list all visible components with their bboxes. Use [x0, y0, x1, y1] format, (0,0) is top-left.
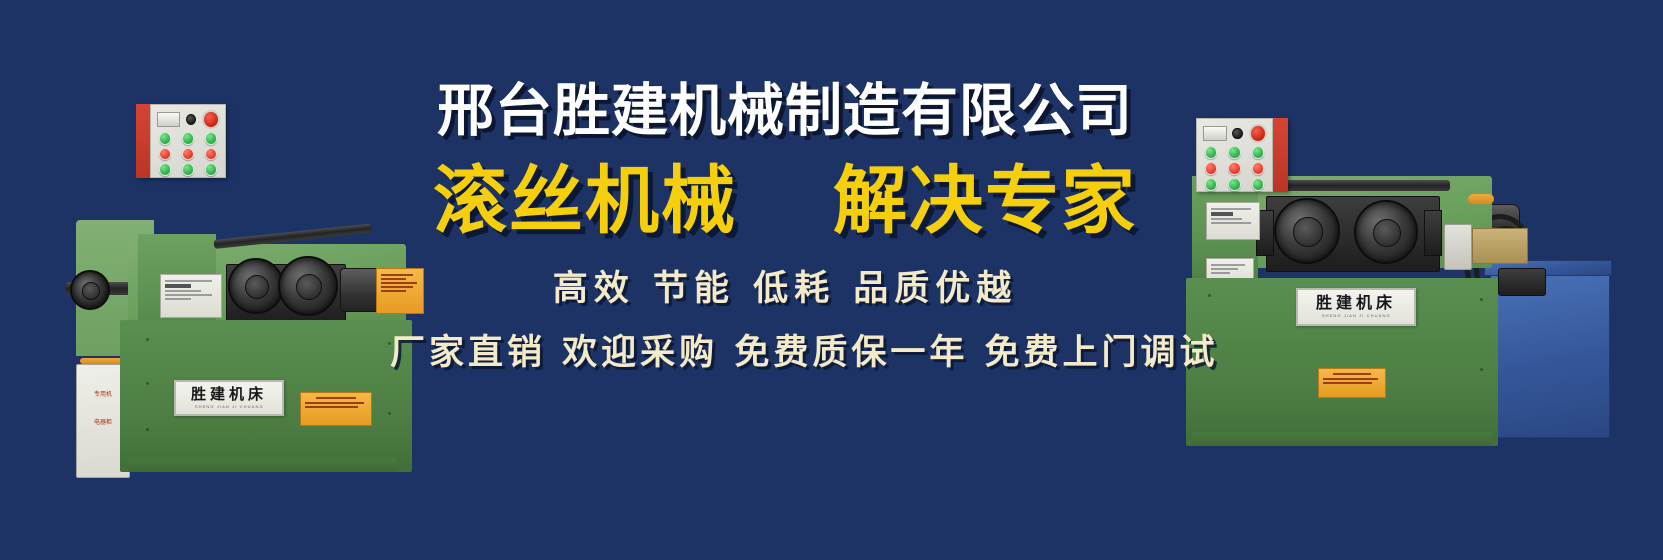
warning-label-line — [1323, 378, 1378, 380]
nameplate-pinyin-text: SHENG JIAN JI CHUANG — [195, 405, 264, 409]
machine-bolt — [1208, 294, 1211, 297]
company-name: 邢台胜建机械制造有限公司 — [390, 80, 1180, 144]
nameplate-chinese-text: 胜建机床 — [191, 387, 267, 402]
machine-right-spec-plate — [1206, 202, 1260, 240]
machine-right-top-tie-bar — [1264, 180, 1450, 191]
indicator-lamp-red[interactable] — [1228, 162, 1241, 175]
spec-plate-line — [165, 284, 191, 288]
machine-bolt — [146, 428, 149, 431]
machine-left-warning-label — [300, 392, 372, 426]
subline-features: 高效 节能 低耗 品质优越 — [390, 260, 1180, 311]
indicator-lamp-grid — [157, 132, 220, 171]
machine-right-nameplate: 胜建机床 SHENG JIAN JI CHUANG — [1296, 288, 1416, 326]
machine-bolt — [146, 338, 149, 341]
indicator-lamp-green[interactable] — [205, 163, 217, 175]
warning-label-line — [1323, 382, 1372, 384]
promotional-banner: 专用机 电器柜 胜建机床 — [0, 0, 1663, 560]
spec-plate-line — [165, 294, 212, 296]
warning-label-line — [1333, 373, 1371, 375]
thread-rolling-machine-right: 胜建机床 SHENG JIAN JI CHUANG — [1168, 118, 1638, 458]
cabinet-label-line-2: 电器柜 — [94, 419, 112, 428]
banner-text-block: 邢台胜建机械制造有限公司 滚丝机械 解决专家 高效 节能 低耗 品质优越 厂家直… — [390, 80, 1180, 375]
machine-left-end-roller — [70, 270, 110, 310]
spec-plate-line — [1211, 222, 1251, 224]
selector-knob-icon[interactable] — [1232, 128, 1243, 140]
indicator-lamp-green[interactable] — [1252, 178, 1265, 191]
spec-plate-line — [165, 280, 212, 282]
headline-right: 解决专家 — [833, 164, 1137, 238]
warning-label-line — [305, 402, 364, 404]
indicator-lamp-red[interactable] — [1205, 162, 1218, 175]
subline-offers: 厂家直销 欢迎采购 免费质保一年 免费上门调试 — [390, 324, 1180, 375]
indicator-lamp-red[interactable] — [182, 148, 194, 160]
indicator-lamp-green[interactable] — [1228, 146, 1241, 159]
indicator-lamp-red[interactable] — [1252, 162, 1265, 175]
spec-plate-line — [1211, 208, 1251, 210]
indicator-lamp-green[interactable] — [159, 163, 171, 175]
machine-right-terminal-block — [1468, 194, 1494, 204]
nameplate-chinese-text: 胜建机床 — [1316, 295, 1396, 311]
spec-plate-line — [1211, 264, 1245, 266]
emergency-stop-button[interactable] — [1249, 124, 1267, 143]
machine-right-control-panel[interactable] — [1196, 118, 1288, 192]
machine-bolt — [1480, 368, 1483, 371]
machine-right-base — [1192, 432, 1492, 446]
machine-right-roller-die-1 — [1274, 198, 1340, 264]
machine-right-brass-plate — [1472, 228, 1528, 264]
machine-bolt — [146, 382, 149, 385]
warning-label-line — [305, 406, 358, 408]
control-panel-top-row — [157, 110, 220, 128]
headline-left: 滚丝机械 — [433, 164, 737, 238]
indicator-lamp-green[interactable] — [182, 132, 194, 144]
thread-rolling-machine-left: 专用机 电器柜 胜建机床 — [28, 92, 428, 472]
machine-left-nameplate: 胜建机床 SHENG JIAN JI CHUANG — [174, 380, 284, 416]
selector-knob-icon[interactable] — [186, 114, 196, 125]
warning-label-line — [316, 397, 356, 399]
indicator-lamp-green[interactable] — [1205, 146, 1218, 159]
indicator-lamp-green[interactable] — [1228, 178, 1241, 191]
indicator-lamp-green[interactable] — [1205, 178, 1218, 191]
control-panel-top-row — [1203, 125, 1267, 143]
machine-left-roller-die-1 — [228, 258, 284, 314]
digital-display — [1203, 126, 1227, 142]
digital-display — [157, 112, 180, 128]
spec-plate-line — [165, 298, 191, 300]
emergency-stop-button[interactable] — [202, 110, 220, 129]
machine-right-valve-block — [1498, 268, 1546, 296]
indicator-lamp-grid — [1203, 146, 1267, 185]
machine-left-spec-plate — [160, 274, 222, 318]
control-panel-face — [1196, 118, 1273, 192]
indicator-lamp-green[interactable] — [159, 132, 171, 144]
machine-right-roller-die-2 — [1354, 200, 1418, 264]
machine-left-control-panel[interactable] — [136, 104, 226, 178]
machine-bolt — [388, 412, 391, 415]
indicator-lamp-red[interactable] — [159, 148, 171, 160]
machine-left-roller-die-2 — [278, 256, 338, 316]
machine-bolt — [1480, 298, 1483, 301]
spec-plate-line — [165, 290, 201, 292]
spec-plate-line — [1211, 268, 1238, 270]
spec-plate-line — [1211, 218, 1242, 220]
control-panel-side-cover — [1273, 118, 1288, 192]
cabinet-label-line-1: 专用机 — [94, 391, 112, 400]
indicator-lamp-green[interactable] — [1252, 146, 1265, 159]
machine-right-lubricator — [1444, 224, 1472, 270]
indicator-lamp-green[interactable] — [205, 132, 217, 144]
machine-left-base — [128, 458, 396, 472]
machine-right-warning-label — [1318, 368, 1386, 398]
indicator-lamp-green[interactable] — [182, 163, 194, 175]
machine-right-die-guide-right — [1424, 210, 1442, 256]
spec-plate-line — [1211, 212, 1233, 216]
control-panel-face — [150, 104, 226, 178]
machine-left-cabinet-trim — [80, 358, 124, 364]
headline-row: 滚丝机械 解决专家 — [390, 164, 1180, 238]
control-panel-side-cover — [136, 104, 150, 178]
nameplate-pinyin-text: SHENG JIAN JI CHUANG — [1322, 314, 1391, 318]
spec-plate-line — [1211, 272, 1230, 274]
indicator-lamp-red[interactable] — [205, 148, 217, 160]
